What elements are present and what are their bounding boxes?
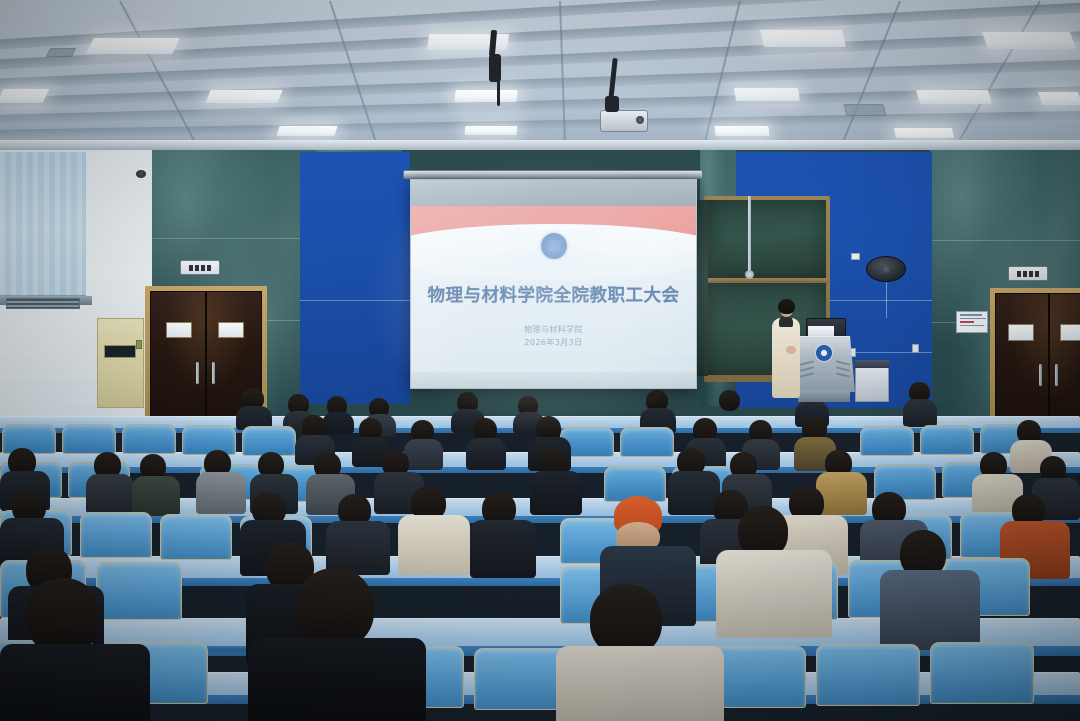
blue-wall-panel-left [300, 152, 410, 404]
seat[interactable] [930, 642, 1034, 704]
ceiling-light [86, 38, 180, 54]
university-seal-icon [541, 233, 567, 259]
ceiling-light [760, 30, 846, 47]
ceiling-light [1038, 92, 1080, 105]
fan-hub [881, 265, 891, 273]
wall-vent-grill [6, 298, 80, 309]
seat[interactable] [160, 514, 232, 560]
projection-screen-housing [403, 170, 703, 179]
chalkboard-upper [708, 200, 826, 278]
ceiling-light [0, 89, 49, 103]
plaque-glyphs [189, 265, 211, 271]
slide-top-band [411, 180, 696, 206]
ceiling-light [916, 90, 992, 104]
left-exit-plaque [180, 260, 220, 275]
left-door-gap [205, 291, 207, 418]
presenter-collar [779, 316, 793, 327]
wall-notice-card [956, 311, 988, 333]
lecture-hall-photo: 物理与材料学院全院教职工大会 物理与材料学院 2026年3月3日 [0, 0, 1080, 721]
seat[interactable] [80, 512, 152, 558]
right-door-leaf[interactable] [995, 293, 1080, 424]
right-door-gap [1048, 293, 1050, 424]
seat[interactable] [816, 644, 920, 706]
ceiling-vent [46, 48, 76, 57]
slide-bottom-band [411, 372, 696, 388]
projector-mount [605, 96, 619, 112]
wall-equipment-cabinet[interactable] [97, 318, 144, 408]
slide-title: 物理与材料学院全院教职工大会 [411, 282, 696, 307]
cabinet-indicator [136, 340, 142, 349]
slide-subtitle-org: 物理与材料学院 [411, 324, 696, 335]
ceiling-light [454, 90, 517, 102]
ceiling-light [205, 90, 282, 103]
plaque-cap [192, 260, 208, 261]
security-camera [136, 170, 146, 178]
ceiling [0, 0, 1080, 152]
pull-rod-knob[interactable] [745, 270, 754, 279]
seat[interactable] [96, 562, 182, 620]
plaque-glyphs [1017, 271, 1039, 277]
ceiling-light [714, 126, 769, 136]
left-door-window [218, 322, 244, 338]
right-exit-plaque [1008, 266, 1048, 281]
projection-screen: 物理与材料学院全院教职工大会 物理与材料学院 2026年3月3日 [410, 179, 697, 389]
slide-subtitle-date: 2026年3月3日 [411, 337, 696, 348]
right-door-window [1008, 324, 1034, 341]
seat[interactable] [62, 424, 116, 454]
podium-documents [808, 326, 834, 336]
screen-pull-rod[interactable] [748, 196, 751, 272]
presenter-coat [772, 318, 800, 398]
right-door-handle[interactable] [1055, 364, 1058, 386]
projector-mount [489, 30, 497, 56]
left-door-handle[interactable] [212, 362, 215, 384]
ceiling-light [894, 128, 954, 138]
presenter-hair [778, 299, 795, 314]
presentation-slide: 物理与材料学院全院教职工大会 物理与材料学院 2026年3月3日 [411, 180, 696, 388]
fan-pull-cord[interactable] [886, 282, 887, 318]
lectern-base [798, 390, 850, 402]
side-equipment-top [855, 360, 889, 368]
wall-switch-box[interactable] [851, 253, 860, 260]
ceiling-light [276, 126, 337, 136]
cabinet-label [104, 345, 136, 358]
lectern-seal-icon [815, 344, 833, 362]
left-door-window [166, 322, 192, 338]
right-door-handle[interactable] [1039, 364, 1042, 386]
seat[interactable] [182, 425, 236, 455]
ceiling-light [465, 126, 518, 135]
ceiling-vent [844, 104, 887, 116]
ceiling-light [427, 34, 509, 50]
wall-outlet[interactable] [912, 344, 919, 353]
ceiling-light [734, 88, 800, 101]
window-roller-blind[interactable] [0, 152, 86, 298]
projector-lens [636, 116, 644, 124]
presenter-hand [786, 346, 796, 354]
left-door-handle[interactable] [196, 362, 199, 384]
ceiling-light [982, 32, 1076, 49]
projector-arm [497, 76, 500, 106]
plaque-cap [1020, 266, 1036, 267]
side-equipment-cabinet [855, 366, 889, 402]
seat[interactable] [860, 426, 914, 456]
seat[interactable] [122, 424, 176, 454]
seat[interactable] [620, 427, 674, 457]
seat[interactable] [920, 425, 974, 455]
right-door-window [1060, 324, 1080, 341]
